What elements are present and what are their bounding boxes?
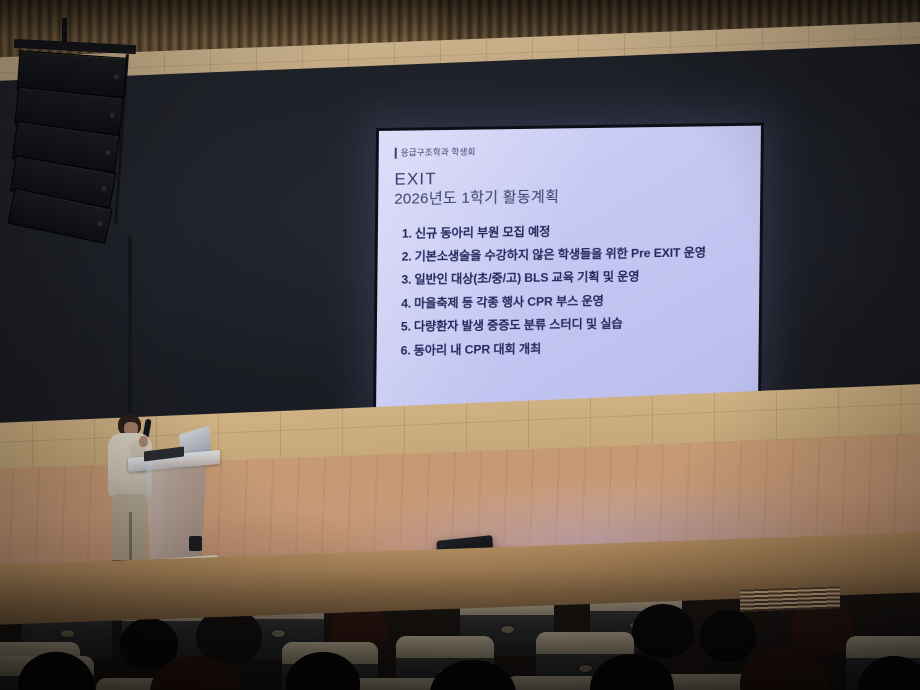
agenda-item-text: 기본소생술을 수강하지 않은 학생들을 위한 Pre EXIT 운영 bbox=[415, 245, 706, 263]
audience-head bbox=[286, 652, 360, 690]
agenda-item-text: 일반인 대상(초/중/고) BLS 교육 기획 및 운영 bbox=[414, 270, 639, 287]
agenda-item-text: 동아리 내 CPR 대회 개최 bbox=[414, 341, 542, 357]
agenda-item-number: 5. bbox=[401, 320, 411, 334]
line-array-speaker-cluster bbox=[4, 18, 164, 248]
kicker-label: 응급구조학과 학생회 bbox=[401, 146, 476, 159]
lectern-logo bbox=[189, 536, 202, 551]
lectern-acrylic-body bbox=[142, 466, 210, 562]
agenda-item: 6.동아리 내 CPR 대회 개최 bbox=[401, 334, 745, 362]
agenda-item-text: 신규 동아리 부원 모집 예정 bbox=[415, 224, 551, 240]
agenda-item-number: 2. bbox=[402, 249, 412, 263]
agenda-list: 1.신규 동아리 부원 모집 예정 2.기본소생술을 수강하지 않은 학생들을 … bbox=[393, 217, 746, 362]
agenda-item-number: 1. bbox=[402, 226, 412, 240]
slide-subtitle: 2026년도 1학기 활동계획 bbox=[394, 185, 746, 210]
agenda-item-number: 6. bbox=[401, 343, 411, 357]
agenda-item-text: 마을축제 등 각종 행사 CPR 부스 운영 bbox=[414, 294, 604, 311]
audience-head bbox=[150, 656, 242, 690]
audience-head bbox=[430, 660, 516, 690]
audience-head bbox=[740, 648, 828, 690]
auditorium-scene: 응급구조학과 학생회 EXIT 2026년도 1학기 활동계획 1.신규 동아리… bbox=[0, 0, 920, 690]
agenda-item-number: 4. bbox=[401, 296, 411, 310]
slide-kicker: 응급구조학과 학생회 bbox=[395, 142, 747, 159]
audience-front-row bbox=[0, 560, 920, 690]
speaker-support-pole bbox=[128, 236, 132, 426]
projection-screen: 응급구조학과 학생회 EXIT 2026년도 1학기 활동계획 1.신규 동아리… bbox=[373, 123, 764, 420]
agenda-item-text: 다량환자 발생 중증도 분류 스터디 및 실습 bbox=[414, 317, 623, 334]
agenda-item-number: 3. bbox=[401, 273, 411, 287]
audience-head bbox=[858, 656, 920, 690]
presentation-slide: 응급구조학과 학생회 EXIT 2026년도 1학기 활동계획 1.신규 동아리… bbox=[376, 126, 761, 417]
audience-head bbox=[590, 654, 674, 690]
kicker-accent-bar bbox=[395, 147, 397, 158]
